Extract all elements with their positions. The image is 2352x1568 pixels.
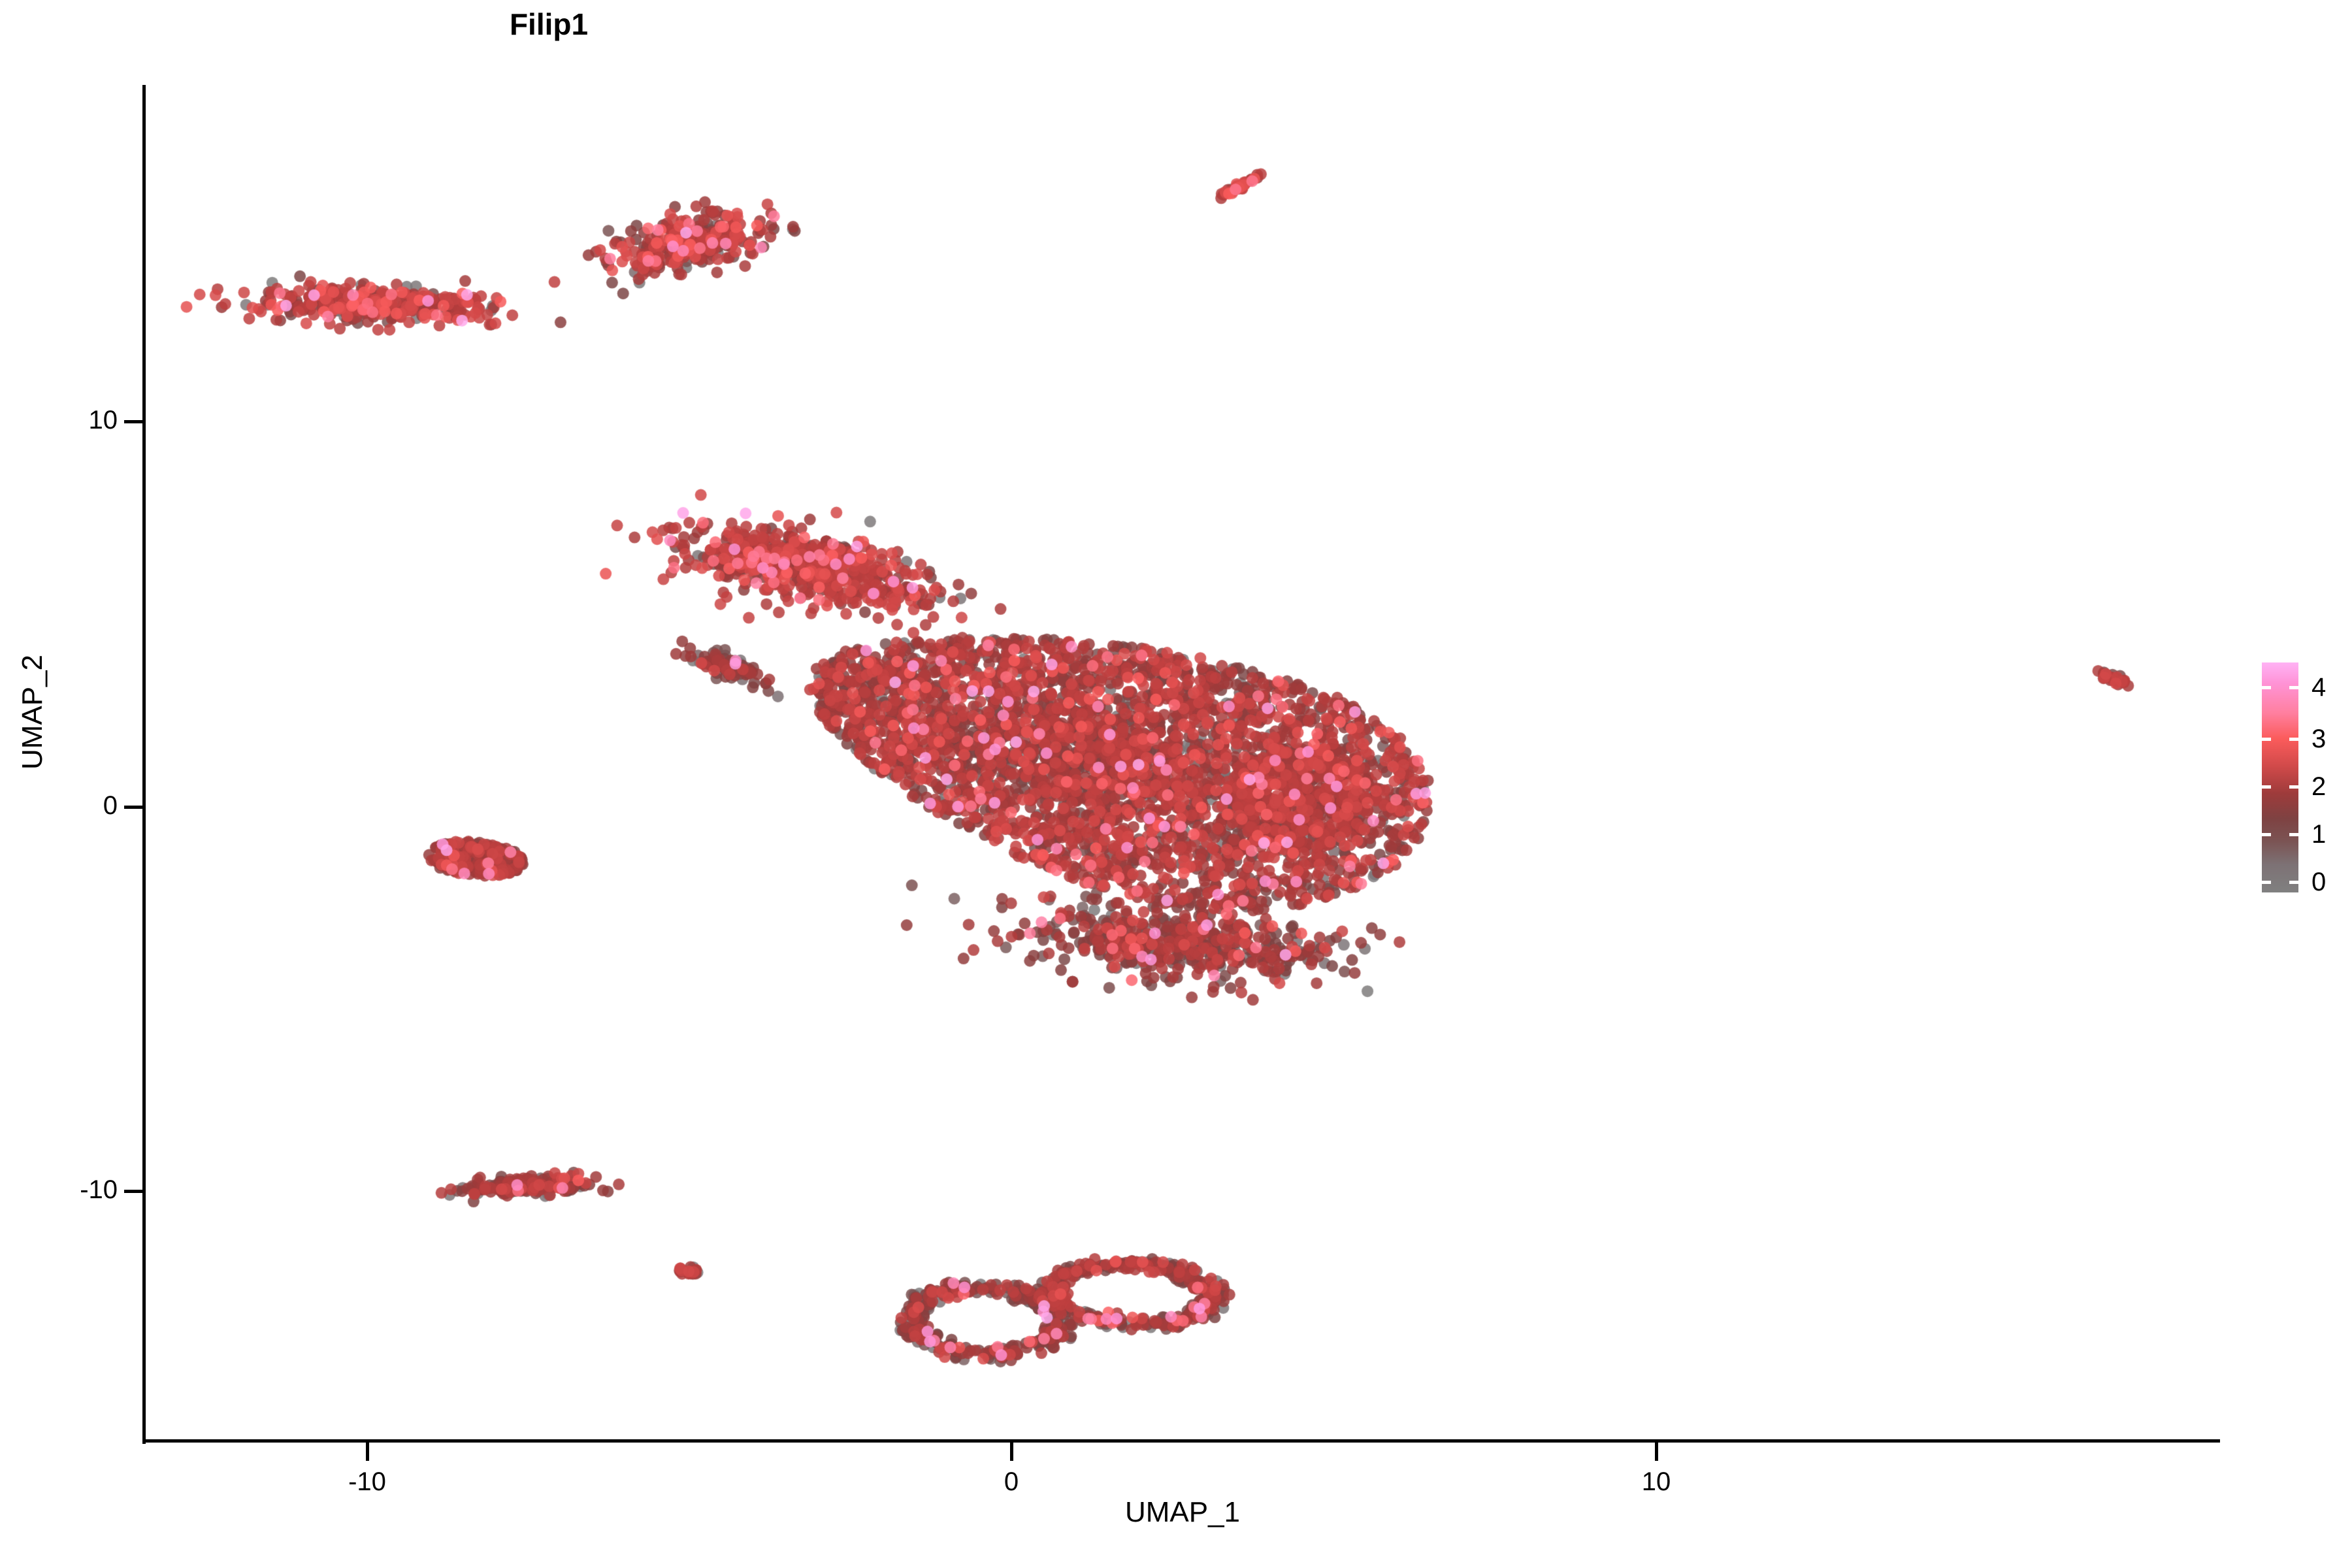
- colorbar-label-4: 4: [2311, 674, 2326, 700]
- scatter-points-layer: [144, 85, 2221, 1441]
- y-tick-10: [124, 420, 144, 423]
- x-axis-label-10: 10: [1591, 1469, 1722, 1495]
- y-tick-0: [124, 806, 144, 809]
- colorbar-tick-3-left: [2262, 738, 2271, 741]
- plot-panel: [144, 85, 2221, 1441]
- colorbar-tick-4-right: [2289, 686, 2298, 689]
- colorbar-label-2: 2: [2311, 774, 2326, 800]
- page-title: Filip1: [0, 7, 2352, 42]
- colorbar-tick-1-left: [2262, 833, 2271, 836]
- x-axis-line: [142, 1439, 2220, 1443]
- x-axis-label-0: 0: [946, 1469, 1077, 1495]
- x-tick-neg10: [366, 1443, 369, 1461]
- plot-title-text: Filip1: [510, 7, 588, 42]
- y-axis-label-10: 10: [13, 407, 118, 433]
- colorbar-label-0: 0: [2311, 869, 2326, 895]
- x-tick-0: [1010, 1443, 1013, 1461]
- colorbar-label-3: 3: [2311, 726, 2326, 752]
- x-axis-title: UMAP_1: [144, 1496, 2221, 1529]
- y-axis-label-neg10: -10: [13, 1177, 118, 1203]
- x-tick-10: [1655, 1443, 1658, 1461]
- y-axis-title: UMAP_2: [16, 483, 49, 941]
- colorbar-tick-3-right: [2289, 738, 2298, 741]
- colorbar-label-1: 1: [2311, 821, 2326, 847]
- colorbar-tick-1-right: [2289, 833, 2298, 836]
- colorbar-tick-0-left: [2262, 881, 2271, 884]
- colorbar-tick-0-right: [2289, 881, 2298, 884]
- colorbar-gradient: [2262, 662, 2298, 892]
- umap-scatter-plot: Filip1 10 0 -10 -10 0 10 UMAP_1 UMAP_2 4…: [0, 0, 2352, 1568]
- y-tick-neg10: [124, 1190, 144, 1193]
- colorbar-tick-4-left: [2262, 686, 2271, 689]
- y-axis-line: [142, 85, 146, 1444]
- colorbar-legend: 4 3 2 1 0: [2262, 662, 2347, 892]
- colorbar-tick-2-left: [2262, 785, 2271, 789]
- colorbar-tick-2-right: [2289, 785, 2298, 789]
- x-axis-label-neg10: -10: [302, 1469, 433, 1495]
